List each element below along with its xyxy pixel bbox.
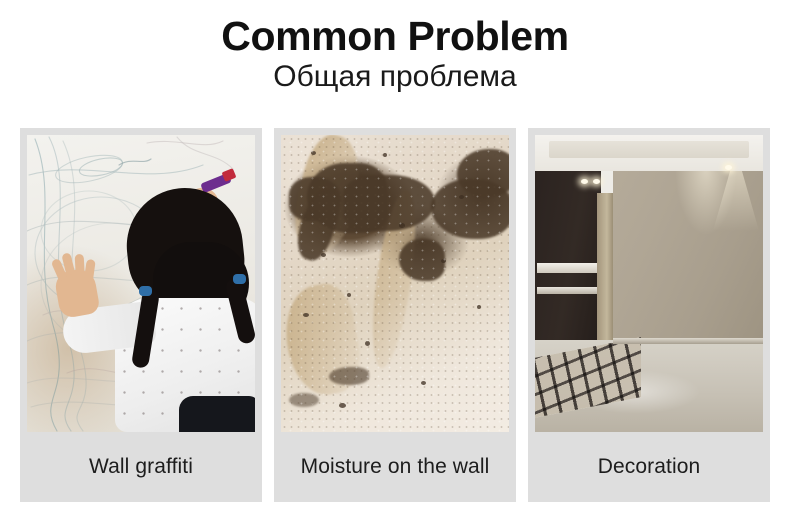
problem-cards-row: Wall graffiti: [20, 128, 770, 502]
dark-accent-wall: [535, 165, 601, 345]
recessed-light-icon: [581, 179, 588, 184]
wall-texture-grain: [281, 135, 509, 432]
moldy-damp-wall-photo: [281, 135, 509, 432]
problem-card-decoration[interactable]: Decoration: [528, 128, 770, 502]
page-subtitle: Общая проблема: [0, 59, 790, 94]
wall-shelf-lower: [537, 287, 597, 294]
hair-tie-right: [233, 274, 246, 284]
finger: [84, 259, 96, 282]
page-title: Common Problem: [0, 0, 790, 59]
card-caption-wall-graffiti: Wall graffiti: [89, 432, 193, 502]
child-pants: [179, 396, 255, 432]
recessed-light-icon: [725, 165, 732, 170]
promo-banner: Common Problem Общая проблема: [0, 0, 790, 524]
card-caption-moisture: Moisture on the wall: [301, 432, 490, 502]
interior-hallway-photo: [535, 135, 763, 432]
card-caption-decoration: Decoration: [598, 432, 701, 502]
child-figure: [93, 182, 255, 432]
heading-block: Common Problem Общая проблема: [0, 0, 790, 94]
finger: [75, 254, 85, 276]
wall-shelf: [537, 263, 599, 273]
baseboard: [613, 338, 763, 344]
hair-tie-left: [139, 286, 152, 296]
problem-card-moisture[interactable]: Moisture on the wall: [274, 128, 516, 502]
recessed-light-icon: [593, 179, 600, 184]
ceiling-recess: [549, 141, 749, 158]
child-hand-on-wall: [53, 267, 100, 319]
problem-card-wall-graffiti[interactable]: Wall graffiti: [20, 128, 262, 502]
wall-light-glow: [667, 159, 745, 309]
child-drawing-on-wall-photo: [27, 135, 255, 432]
